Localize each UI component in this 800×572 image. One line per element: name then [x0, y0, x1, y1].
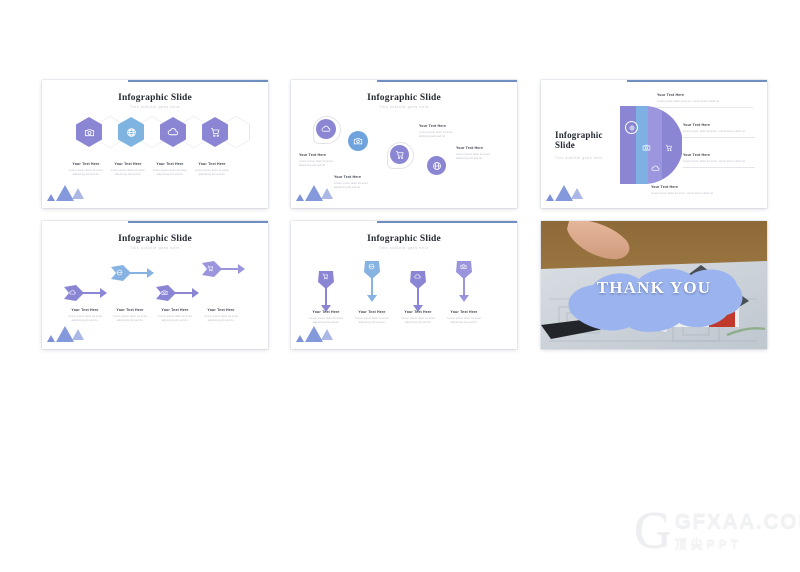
caption-heading: Your Text Here [657, 94, 757, 98]
caption-heading: Your Text Here [64, 163, 108, 167]
caption-heading: Your Text Here [683, 154, 759, 158]
decor-triangle-medium [72, 188, 84, 199]
slide-subtitle: This subtitle goes here [42, 246, 268, 250]
caption-heading: Your Text Here [198, 309, 244, 313]
top-accent-line [128, 80, 268, 82]
cart-icon [210, 127, 221, 138]
watermark-domain: GFXAA.COM [675, 510, 800, 534]
caption-heading: Your Text Here [62, 309, 108, 313]
decor-triangle-small [296, 194, 304, 201]
caption-heading: Your Text Here [107, 309, 153, 313]
caption-divider [683, 137, 755, 138]
caption-body: Lorem ipsum dolor sit amet adipiscing el… [456, 153, 502, 161]
arrow-caption-1: Your Text Here Lorem ipsum dolor sit ame… [62, 309, 108, 323]
decor-triangle-small [47, 194, 55, 201]
caption-body: Lorem ipsum dolor sit amet - lorem ipsum… [683, 130, 759, 134]
caption-heading: Your Text Here [456, 147, 502, 151]
decor-triangle-medium [321, 329, 333, 340]
top-accent-line [128, 221, 268, 223]
hexagon-caption-1: Your Text Here Lorem ipsum dolor sit ame… [64, 163, 108, 177]
circle-item-4[interactable] [427, 156, 446, 175]
decor-triangle-small [296, 335, 304, 342]
top-accent-line [377, 221, 517, 223]
cloud-icon [69, 289, 76, 296]
caption-body: Lorem ipsum dolor sit amet adipiscing el… [419, 131, 465, 139]
caption-body: Lorem ipsum dolor sit amet adipiscing el… [334, 182, 378, 190]
caption-heading: Your Text Here [106, 163, 150, 167]
thank-you-text: THANK YOU [541, 278, 767, 298]
watermark: G GFXAA.COM 顶尖PPT [634, 508, 800, 555]
slide-title: Infographic Slide [555, 130, 619, 150]
arrow-item-3[interactable] [154, 283, 200, 308]
top-accent-line [627, 80, 767, 82]
caption-body: Lorem ipsum dolor sit amet - lorem ipsum… [651, 192, 751, 196]
watermark-logo: G [634, 508, 672, 555]
slide-subtitle: This subtitle goes here [291, 246, 517, 250]
decor-triangle-medium [571, 188, 583, 199]
globe-icon [368, 263, 375, 270]
hexagon-item-2[interactable] [118, 117, 144, 147]
circle-item-1[interactable] [316, 119, 336, 139]
caption-heading: Your Text Here [651, 186, 751, 190]
caption-body: Lorem ipsum dolor sit amet - lorem ipsum… [657, 100, 757, 104]
camera-icon [84, 127, 95, 138]
hexagon-caption-2: Your Text Here Lorem ipsum dolor sit ame… [106, 163, 150, 177]
slide-title: Infographic Slide [42, 93, 268, 103]
circle-caption-3: Your Text Here Lorem ipsum dolor sit ame… [419, 125, 465, 139]
globe-icon [629, 125, 635, 131]
caption-heading: Your Text Here [683, 124, 759, 128]
slide-thumbnail-semicircle[interactable]: Infographic Slide This subtitle goes her… [541, 80, 767, 208]
globe-icon [432, 161, 442, 171]
decor-triangle-medium [321, 188, 333, 199]
caption-heading: Your Text Here [299, 154, 343, 158]
caption-heading: Your Text Here [334, 176, 378, 180]
semicircle-caption-2: Your Text Here Lorem ipsum dolor sit ame… [683, 124, 759, 134]
slide-subtitle: This subtitle goes here [555, 156, 603, 160]
semicircle-icon-cart[interactable] [665, 139, 673, 157]
slide-subtitle: This subtitle goes here [42, 105, 268, 109]
camera-icon [161, 289, 168, 296]
cart-icon [395, 150, 405, 160]
caption-heading: Your Text Here [349, 311, 395, 315]
arrow-item-2[interactable] [109, 263, 155, 288]
slide-title-text: Infographic Slide [555, 130, 603, 150]
down-arrow-caption-2: Your Text Here Lorem ipsum dolor sit ame… [349, 311, 395, 325]
slide-title: Infographic Slide [291, 234, 517, 244]
caption-heading: Your Text Here [148, 163, 192, 167]
hexagon-caption-3: Your Text Here Lorem ipsum dolor sit ame… [148, 163, 192, 177]
decor-triangle-medium [72, 329, 84, 340]
caption-divider [657, 107, 753, 108]
down-arrow-item-4[interactable] [454, 259, 474, 308]
slide-subtitle: This subtitle goes here [291, 105, 517, 109]
cloud-icon [167, 126, 179, 138]
caption-heading: Your Text Here [441, 311, 487, 315]
caption-body: Lorem ipsum dolor sit amet, adipiscing e… [148, 169, 192, 177]
cart-icon [207, 265, 214, 272]
cloud-icon [651, 164, 660, 173]
arrow-caption-4: Your Text Here Lorem ipsum dolor sit ame… [198, 309, 244, 323]
hexagon-item-4[interactable] [202, 117, 228, 147]
caption-body: Lorem ipsum dolor sit amet, adipiscing e… [190, 169, 234, 177]
caption-body: Lorem ipsum dolor sit amet adipiscing el… [299, 160, 343, 168]
caption-body: Lorem ipsum dolor sit amet adipiscing el… [441, 317, 487, 325]
slide-title: Infographic Slide [42, 234, 268, 244]
caption-body: Lorem ipsum dolor sit amet - lorem ipsum… [683, 160, 759, 164]
arrow-caption-3: Your Text Here Lorem ipsum dolor sit ame… [152, 309, 198, 323]
caption-heading: Your Text Here [419, 125, 465, 129]
decor-triangle-small [47, 335, 55, 342]
caption-body: Lorem ipsum dolor sit amet adipiscing el… [349, 317, 395, 325]
cart-icon [322, 273, 329, 280]
semicircle-caption-4: Your Text Here Lorem ipsum dolor sit ame… [651, 186, 751, 196]
decor-triangle-small [546, 194, 554, 201]
globe-icon [116, 269, 123, 276]
circle-caption-2: Your Text Here Lorem ipsum dolor sit ame… [334, 176, 378, 190]
watermark-tagline: 顶尖PPT [675, 535, 800, 552]
hexagon-item-3[interactable] [160, 117, 186, 147]
circle-caption-1: Your Text Here Lorem ipsum dolor sit ame… [299, 154, 343, 168]
cloud-icon [321, 124, 331, 134]
arrow-caption-2: Your Text Here Lorem ipsum dolor sit ame… [107, 309, 153, 323]
caption-body: Lorem ipsum dolor sit amet adipiscing el… [303, 317, 349, 325]
cloud-icon [414, 273, 421, 280]
caption-divider [683, 167, 755, 168]
caption-body: Lorem ipsum dolor sit amet adipiscing el… [107, 315, 153, 323]
camera-icon [460, 263, 467, 270]
circle-caption-4: Your Text Here Lorem ipsum dolor sit ame… [456, 147, 502, 161]
camera-icon [642, 143, 651, 152]
camera-icon [353, 136, 363, 146]
caption-body: Lorem ipsum dolor sit amet adipiscing el… [152, 315, 198, 323]
slide-title: Infographic Slide [291, 93, 517, 103]
caption-heading: Your Text Here [152, 309, 198, 313]
globe-icon [126, 127, 137, 138]
down-arrow-caption-3: Your Text Here Lorem ipsum dolor sit ame… [395, 311, 441, 325]
caption-body: Lorem ipsum dolor sit amet, adipiscing e… [64, 169, 108, 177]
caption-body: Lorem ipsum dolor sit amet adipiscing el… [62, 315, 108, 323]
caption-body: Lorem ipsum dolor sit amet, adipiscing e… [106, 169, 150, 177]
slide-thumbnail-arrow-right[interactable]: Infographic Slide This subtitle goes her… [42, 221, 268, 349]
hexagon-caption-4: Your Text Here Lorem ipsum dolor sit ame… [190, 163, 234, 177]
down-arrow-caption-4: Your Text Here Lorem ipsum dolor sit ame… [441, 311, 487, 325]
down-arrow-item-2[interactable] [362, 259, 382, 308]
caption-heading: Your Text Here [190, 163, 234, 167]
semicircle-caption-1: Your Text Here Lorem ipsum dolor sit ame… [657, 94, 757, 104]
top-accent-line [377, 80, 517, 82]
semicircle-icon-camera[interactable] [642, 139, 651, 157]
caption-heading: Your Text Here [303, 311, 349, 315]
circle-item-3[interactable] [390, 145, 409, 164]
slide-thumbnail-circle-stair[interactable]: Infographic Slide This subtitle goes her… [291, 80, 517, 208]
cart-icon [665, 144, 673, 152]
semicircle-icon-cloud[interactable] [651, 160, 660, 178]
arrow-item-1[interactable] [62, 283, 108, 308]
semicircle-icon-globe[interactable] [625, 121, 638, 134]
hexagon-item-1[interactable] [76, 117, 102, 147]
circle-item-2[interactable] [348, 131, 368, 151]
caption-body: Lorem ipsum dolor sit amet adipiscing el… [198, 315, 244, 323]
down-arrow-caption-1: Your Text Here Lorem ipsum dolor sit ame… [303, 311, 349, 325]
caption-heading: Your Text Here [395, 311, 441, 315]
caption-body: Lorem ipsum dolor sit amet adipiscing el… [395, 317, 441, 325]
semicircle-caption-3: Your Text Here Lorem ipsum dolor sit ame… [683, 154, 759, 164]
slide-thumbnail-arrow-down[interactable]: Infographic Slide This subtitle goes her… [291, 221, 517, 349]
arrow-item-4[interactable] [200, 259, 246, 284]
slide-thumbnail-hexagon-row[interactable]: Infographic Slide This subtitle goes her… [42, 80, 268, 208]
slide-thumbnail-thank-you[interactable]: THANK YOU [541, 221, 767, 349]
slide-thumbnail-board: Infographic Slide This subtitle goes her… [0, 0, 800, 572]
